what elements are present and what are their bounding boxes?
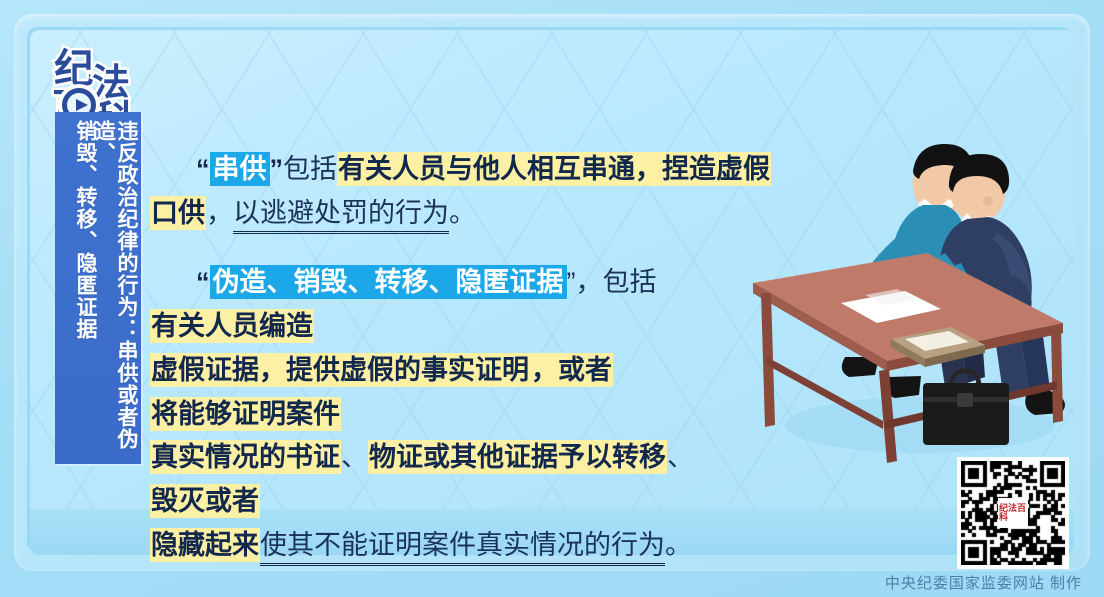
- definition-weizao-part8: 隐藏起来: [150, 528, 260, 562]
- banner-column-left: 销毁、转移、隐匿证据: [59, 120, 96, 456]
- qr-center-logo: 纪法百科: [998, 498, 1028, 528]
- definition-chuangong-part2: 口供: [150, 196, 206, 230]
- paragraph-weizao: “伪造、销毁、转移、隐匿证据”，包括有关人员编造 虚假证据，提供虚假的事实证明，…: [150, 261, 790, 567]
- term-weizao-xiaohui: 伪造、销毁、转移、隐匿证据: [210, 265, 567, 299]
- quote-open-2: “: [196, 267, 210, 297]
- definition-weizao-part5: 真实情况的书证: [150, 440, 341, 474]
- definition-weizao-tail: 使其不能证明案件真实情况的行为: [260, 530, 665, 566]
- connector-baokuo-1: 包括: [283, 154, 337, 184]
- definition-weizao-part7: 毁灭或者: [150, 484, 260, 518]
- period-2: 。: [665, 530, 692, 560]
- paragraph-chuangong: “串供”包括有关人员与他人相互串通，捏造虚假 口供，以逃避处罚的行为。: [150, 148, 790, 235]
- definition-weizao-part3: ，或者: [530, 353, 613, 387]
- credit-line: 中央纪委国家监委网站 制作: [885, 572, 1082, 593]
- connector-baokuo-2: ”，包括: [567, 267, 657, 297]
- term-chuangong: 串供: [210, 152, 270, 186]
- quote-close-1: ”: [270, 154, 284, 184]
- definition-weizao-part6: 物证或其他证据予以转移: [368, 440, 667, 474]
- quote-open-1: “: [196, 154, 210, 184]
- two-men-at-desk-illustration: [745, 125, 1075, 470]
- definition-chuangong-tail: 以逃避处罚的行为: [233, 198, 449, 234]
- separator-1: 、: [341, 442, 368, 472]
- vertical-title-banner: 违反政治纪律的行为：串供或者伪造、 销毁、转移、隐匿证据: [55, 112, 141, 464]
- qr-code[interactable]: 纪法百科: [957, 457, 1069, 569]
- comma-1: ，: [206, 198, 233, 228]
- definition-weizao-part2: 虚假证据，提供虚假的事实证明: [150, 353, 530, 387]
- definition-weizao-part1: 有关人员编造: [150, 309, 314, 343]
- separator-2: 、: [667, 442, 694, 472]
- definition-chuangong-part1: 有关人员与他人相互串通，捏造虚假: [337, 152, 771, 186]
- period-1: 。: [449, 198, 476, 228]
- qr-center-logo-text: 纪法百科: [999, 504, 1027, 522]
- banner-column-right: 违反政治纪律的行为：串供或者伪造、: [96, 120, 137, 456]
- definition-weizao-part4: 将能够证明案件: [150, 397, 341, 431]
- poster-root: 纪 法 百 科 违反政治纪律的行为：串供或者伪造、 销毁、转移、隐匿证据 “串供…: [0, 0, 1104, 597]
- main-text-body: “串供”包括有关人员与他人相互串通，捏造虚假 口供，以逃避处罚的行为。 “伪造、…: [150, 148, 790, 594]
